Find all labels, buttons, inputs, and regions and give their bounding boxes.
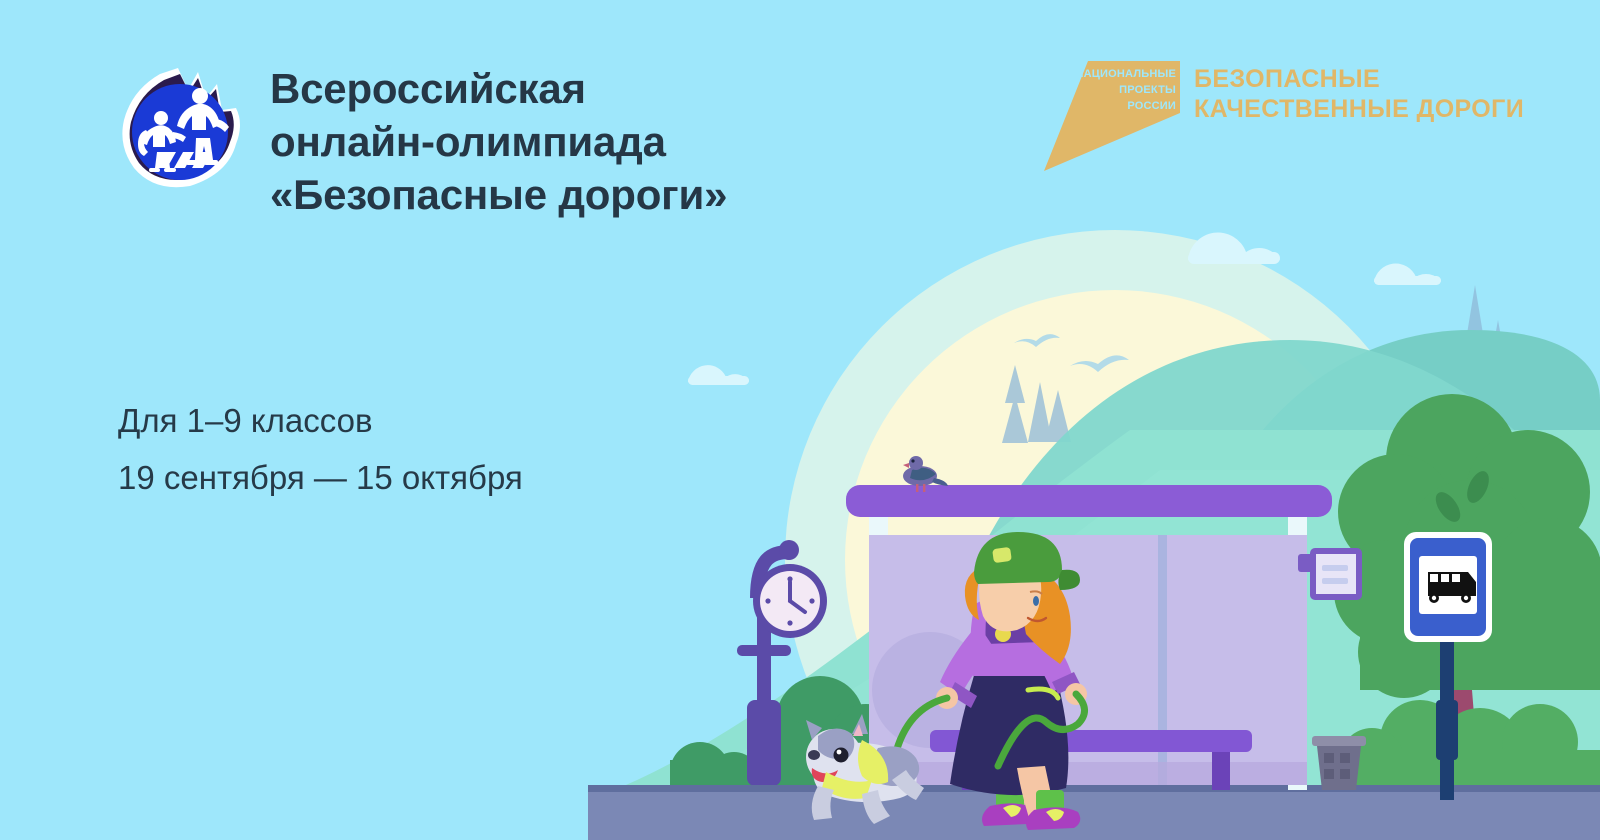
event-details: Для 1–9 классов 19 сентября — 15 октября	[118, 392, 523, 506]
program-name: БЕЗОПАСНЫЕ КАЧЕСТВЕННЫЕ ДОРОГИ	[1194, 58, 1524, 124]
national-projects-flag-icon: НАЦИОНАЛЬНЫЕ ПРОЕКТЫ РОССИИ	[1040, 61, 1180, 171]
brand-lockup: Всероссийская онлайн-олимпиада «Безопасн…	[118, 62, 727, 221]
svg-text:НАЦИОНАЛЬНЫЕ: НАЦИОНАЛЬНЫЕ	[1076, 68, 1176, 80]
pedestrian-crossing-logo-icon	[118, 62, 244, 190]
shelter-roof	[846, 485, 1332, 517]
dates-line: 19 сентября — 15 октября	[118, 449, 523, 506]
svg-text:ПРОЕКТЫ: ПРОЕКТЫ	[1119, 84, 1176, 96]
national-projects-lockup: НАЦИОНАЛЬНЫЕ ПРОЕКТЫ РОССИИ БЕЗОПАСНЫЕ К…	[1040, 58, 1524, 171]
olympiad-banner: Всероссийская онлайн-олимпиада «Безопасн…	[0, 0, 1600, 840]
page-title: Всероссийская онлайн-олимпиада «Безопасн…	[270, 62, 727, 221]
grades-line: Для 1–9 классов	[118, 392, 523, 449]
svg-text:РОССИИ: РОССИИ	[1127, 100, 1176, 112]
